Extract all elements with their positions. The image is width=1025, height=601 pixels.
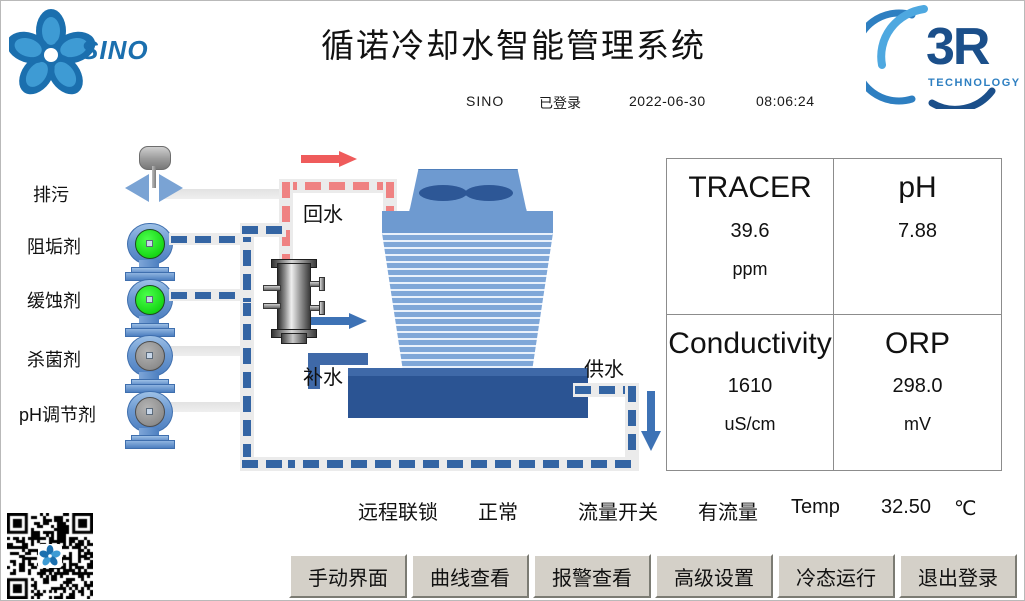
pump-scale-inhibitor[interactable]: [119, 223, 179, 279]
cooling-tower-louvers: [382, 233, 553, 368]
panel-cell-name: TRACER: [688, 171, 811, 206]
pipe-biocide-feed: [169, 346, 249, 356]
panel-cell-value: 1610: [728, 375, 773, 398]
remote-interlock-value: 正常: [478, 496, 518, 525]
remote-interlock-label: 远程联锁: [358, 496, 438, 525]
pump-ph-adjuster[interactable]: [119, 391, 179, 447]
pump-corrosion-inhibitor[interactable]: [119, 279, 179, 335]
panel-cell-name: pH: [898, 171, 936, 206]
pipe-ph-feed: [169, 402, 249, 412]
dosing-line-corrosion-inhibitor: [171, 292, 239, 299]
cooling-tower-basin-lip: [348, 368, 588, 376]
qr-sino-flower-icon: [38, 544, 62, 568]
valve-wing-right-icon: [159, 174, 183, 202]
advanced-settings-button[interactable]: 高级设置: [655, 554, 773, 598]
supply-pipe-bottom: [279, 460, 637, 468]
supply-pipe-upper: [242, 226, 284, 234]
threer-logo-subtext: TECHNOLOGY: [928, 77, 1021, 89]
label-return-water: 回水: [303, 198, 343, 227]
hx-nozzle-cap-ru-icon: [319, 277, 325, 291]
valve-stem-icon: [152, 166, 156, 188]
pump-center-dot-icon: [146, 296, 153, 303]
logout-button[interactable]: 退出登录: [899, 554, 1017, 598]
alarm-view-button[interactable]: 报警查看: [533, 554, 651, 598]
panel-cell-name: ORP: [885, 327, 950, 362]
label-ph-adjuster: pH调节剂: [19, 401, 96, 427]
cold-run-button[interactable]: 冷态运行: [777, 554, 895, 598]
panel-cell-value: 7.88: [898, 220, 937, 243]
temp-unit: ℃: [954, 496, 976, 521]
manual-interface-button[interactable]: 手动界面: [289, 554, 407, 598]
panel-cell-conductivity: Conductivity 1610 uS/cm: [667, 315, 834, 471]
supply-pipe-right: [628, 386, 636, 468]
hx-shell-icon: [277, 263, 311, 335]
dosing-line-scale-inhibitor: [171, 236, 239, 243]
status-bar: 远程联锁 正常 流量开关 有流量 Temp 32.50 ℃: [1, 496, 1025, 528]
qr-code[interactable]: [7, 513, 93, 599]
return-flow-arrow-icon: [301, 151, 361, 167]
temp-label: Temp: [791, 496, 840, 519]
pump-center-dot-icon: [146, 408, 153, 415]
cooling-tower-top-shroud: [382, 211, 553, 235]
supply-pipe-upleft: [243, 226, 251, 302]
label-makeup-water: 补水: [303, 361, 343, 390]
current-date: 2022-06-30: [629, 93, 706, 109]
panel-cell-name: Conductivity: [668, 327, 831, 362]
temp-value: 32.50: [881, 496, 931, 519]
panel-cell-ph: pH 7.88: [834, 159, 1001, 315]
heat-exchanger-icon[interactable]: [263, 253, 323, 345]
blowdown-valve-icon[interactable]: [119, 146, 189, 208]
label-corrosion-inhibitor: 缓蚀剂: [27, 287, 81, 313]
cooling-tower-fan-blade-left-icon: [419, 185, 467, 201]
supply-pipe-left: [243, 300, 251, 470]
panel-cell-tracer: TRACER 39.6 ppm: [667, 159, 834, 315]
flow-switch-label: 流量开关: [578, 496, 658, 525]
return-pipe-top: [281, 182, 395, 190]
makeup-flow-arrow-icon: [311, 313, 371, 329]
label-biocide: 杀菌剂: [27, 346, 81, 372]
panel-cell-value: 298.0: [892, 375, 942, 398]
current-time: 08:06:24: [756, 93, 815, 109]
cooling-tower-fan-blade-right-icon: [465, 185, 513, 201]
flow-switch-value: 有流量: [698, 496, 758, 525]
header-statusline: SINO 已登录 2022-06-30 08:06:24: [1, 93, 1025, 115]
pump-base-lower-icon: [125, 440, 175, 449]
qr-center-logo-icon: [38, 544, 62, 568]
curve-view-button[interactable]: 曲线查看: [411, 554, 529, 598]
hx-bottom-cap-icon: [281, 333, 307, 344]
label-supply-water: 供水: [584, 353, 624, 382]
action-button-bar: 手动界面 曲线查看 报警查看 高级设置 冷态运行 退出登录: [289, 554, 1017, 598]
label-scale-inhibitor: 阻垢剂: [27, 233, 81, 259]
label-blowdown: 排污: [33, 181, 69, 207]
panel-cell-orp: ORP 298.0 mV: [834, 315, 1001, 471]
hx-nozzle-left-lower-icon: [263, 303, 281, 309]
login-status: 已登录: [539, 93, 581, 113]
hmi-screen: SINO 3R TECHNOLOGY 循诺冷却水智能管理系统 SINO 已登录 …: [0, 0, 1025, 601]
supply-pipe-corner: [242, 460, 286, 468]
panel-cell-value: 39.6: [731, 220, 770, 243]
pump-center-dot-icon: [146, 352, 153, 359]
measurement-panel: TRACER 39.6 ppm pH 7.88 Conductivity 161…: [666, 158, 1002, 471]
panel-cell-unit: mV: [904, 414, 931, 435]
valve-wing-left-icon: [125, 174, 149, 202]
panel-cell-unit: ppm: [732, 259, 767, 280]
supply-flow-arrow-icon: [641, 391, 661, 453]
logged-user: SINO: [466, 93, 504, 109]
hx-nozzle-left-upper-icon: [263, 285, 281, 291]
page-title: 循诺冷却水智能管理系统: [1, 19, 1025, 67]
panel-cell-unit: uS/cm: [724, 414, 775, 435]
pump-biocide[interactable]: [119, 335, 179, 391]
pump-center-dot-icon: [146, 240, 153, 247]
